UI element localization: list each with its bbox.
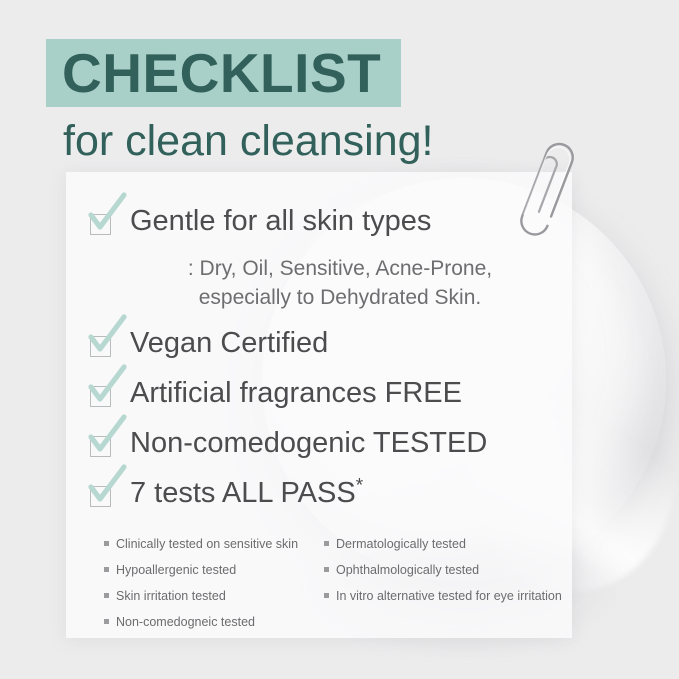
fine-print-item: In vitro alternative tested for eye irri…: [324, 589, 564, 604]
fine-print-text: Dermatologically tested: [336, 537, 466, 552]
page-title: CHECKLIST: [62, 40, 381, 106]
checklist-item-5[interactable]: 7 tests ALL PASS*: [88, 474, 363, 512]
square-bullet-icon: [324, 541, 329, 546]
square-bullet-icon: [104, 541, 109, 546]
subtext-line-1: : Dry, Oil, Sensitive, Acne-Prone,: [140, 254, 540, 283]
fine-print-text: Ophthalmologically tested: [336, 563, 479, 578]
fine-print-text: In vitro alternative tested for eye irri…: [336, 589, 562, 604]
fine-print-item: Non-comedogneic tested: [104, 615, 310, 630]
checklist-item-subtext: : Dry, Oil, Sensitive, Acne-Prone, espec…: [140, 254, 540, 312]
checklist-item-3[interactable]: Artificial fragrances FREE: [88, 374, 462, 412]
checklist-item-label: 7 tests ALL PASS*: [130, 474, 363, 512]
fine-print-item: Clinically tested on sensitive skin: [104, 537, 310, 552]
checkmark-icon: [84, 360, 130, 412]
fine-print-text: Hypoallergenic tested: [116, 563, 236, 578]
checkbox-checked-icon[interactable]: [88, 330, 116, 360]
checklist-item-label: Vegan Certified: [130, 324, 328, 362]
checkmark-icon: [84, 310, 130, 362]
square-bullet-icon: [104, 619, 109, 624]
checklist-item-label: Gentle for all skin types: [130, 202, 431, 240]
checklist-item-4[interactable]: Non-comedogenic TESTED: [88, 424, 487, 462]
fine-print-text: Non-comedogneic tested: [116, 615, 255, 630]
page-subtitle: for clean cleansing!: [63, 114, 434, 168]
checkmark-icon: [84, 410, 130, 462]
square-bullet-icon: [324, 567, 329, 572]
checklist-item-label: Artificial fragrances FREE: [130, 374, 462, 412]
checkbox-checked-icon[interactable]: [88, 208, 116, 238]
checkbox-checked-icon[interactable]: [88, 430, 116, 460]
checklist-item-label: Non-comedogenic TESTED: [130, 424, 487, 462]
checklist-item-1[interactable]: Gentle for all skin types: [88, 202, 431, 240]
paperclip-icon: [506, 128, 584, 236]
checklist-card: Gentle for all skin types : Dry, Oil, Se…: [66, 172, 572, 638]
fine-print-item: Ophthalmologically tested: [324, 563, 564, 578]
fine-print: Clinically tested on sensitive skin Hypo…: [104, 537, 564, 630]
checklist-item-2[interactable]: Vegan Certified: [88, 324, 328, 362]
fine-print-text: Clinically tested on sensitive skin: [116, 537, 298, 552]
fine-print-text: Skin irritation tested: [116, 589, 226, 604]
subtext-line-2: especially to Dehydrated Skin.: [140, 283, 540, 312]
checkmark-icon: [84, 188, 130, 240]
checkmark-icon: [84, 460, 130, 512]
fine-print-left-column: Clinically tested on sensitive skin Hypo…: [104, 537, 310, 630]
fine-print-item: Dermatologically tested: [324, 537, 564, 552]
square-bullet-icon: [104, 567, 109, 572]
square-bullet-icon: [324, 593, 329, 598]
checkbox-checked-icon[interactable]: [88, 480, 116, 510]
fine-print-right-column: Dermatologically tested Ophthalmological…: [324, 537, 564, 630]
fine-print-item: Hypoallergenic tested: [104, 563, 310, 578]
square-bullet-icon: [104, 593, 109, 598]
fine-print-item: Skin irritation tested: [104, 589, 310, 604]
checkbox-checked-icon[interactable]: [88, 380, 116, 410]
